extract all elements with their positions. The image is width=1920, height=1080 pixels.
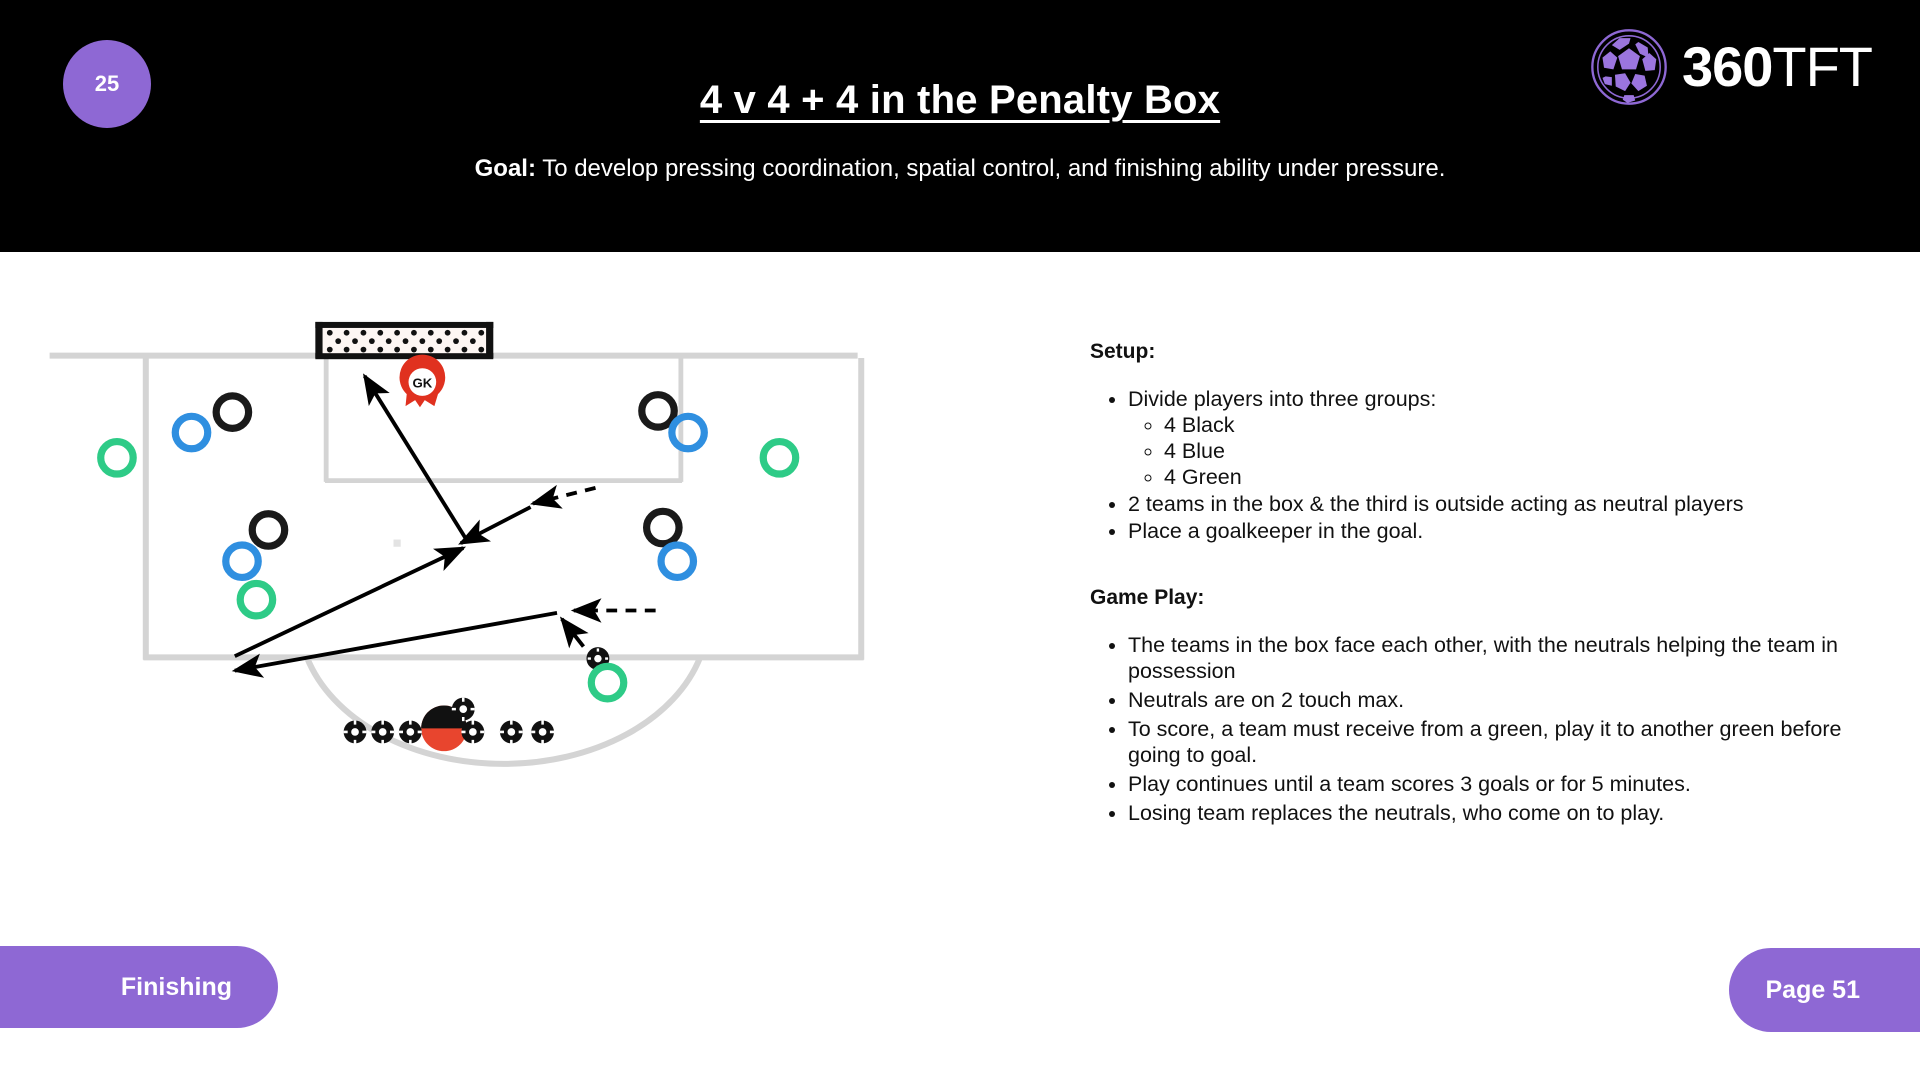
list-item: To score, a team must receive from a gre… [1128,716,1880,768]
brand-wordmark: 360TFT [1682,39,1872,95]
list-item: Play continues until a team scores 3 goa… [1128,771,1880,797]
goalkeeper-marker: GK [400,355,446,408]
goal-net [315,322,493,359]
soccer-ball-icon [1590,28,1668,106]
goal-text: To develop pressing coordination, spatia… [536,155,1445,182]
player-blue [226,545,258,577]
page-number-label: Page 51 [1765,976,1860,1005]
player-black [252,514,284,546]
setup-sublist: 4 Black 4 Blue 4 Green [1128,412,1880,490]
player-green-neutral [240,583,272,615]
list-item: 4 Blue [1164,438,1880,464]
arrow-run-top-right [533,488,596,504]
list-item: Neutrals are on 2 touch max. [1128,687,1880,713]
page-title-text: 4 v 4 + 4 in the Penalty Box [700,78,1220,122]
setup-heading: Setup: [1090,340,1880,364]
player-black [642,395,674,427]
list-item: The teams in the box face each other, wi… [1128,632,1880,684]
setup-list: Divide players into three groups: 4 Blac… [1090,386,1880,544]
player-green-neutral [763,442,795,474]
goal-label: Goal: [475,155,536,182]
player-blue [661,545,693,577]
equipment-ball-rack [344,698,554,752]
arrow-pass-to-green [235,613,557,671]
player-green-neutral [591,666,623,698]
list-item: Losing team replaces the neutrals, who c… [1128,800,1880,826]
category-badge: Finishing [0,946,278,1028]
players-group [101,395,796,699]
movement-arrows [235,376,656,671]
goal-statement: Goal: To develop pressing coordination, … [0,155,1920,183]
penalty-arc [307,657,700,764]
gameplay-list: The teams in the box face each other, wi… [1090,632,1880,826]
page-header: 25 4 v 4 + 4 in the Penalty Box Goal: To… [0,0,1920,252]
instructions-panel: Setup: Divide players into three groups:… [1090,340,1880,829]
page-number-badge: Page 51 [1729,948,1920,1032]
drill-diagram: GK [40,280,1050,840]
player-green-neutral [101,442,133,474]
pitch-svg: GK [40,280,1050,840]
player-blue [175,416,207,448]
list-item: 2 teams in the box & the third is outsid… [1128,491,1880,517]
penalty-spot [394,540,401,547]
list-item: Divide players into three groups: 4 Blac… [1128,386,1880,490]
goalkeeper-label: GK [412,375,432,390]
player-blue [672,416,704,448]
arrow-shot-to-goal [365,376,466,538]
player-black [216,396,248,428]
category-label: Finishing [121,973,232,1002]
list-item: 4 Green [1164,464,1880,490]
brand-wordmark-light: TFT [1772,35,1872,98]
arrow-ball-to-player [562,619,584,647]
brand-wordmark-bold: 360 [1682,35,1772,98]
gameplay-heading: Game Play: [1090,586,1880,610]
setup-item-text: Divide players into three groups: [1128,387,1436,411]
brand-logo: 360TFT [1590,28,1872,106]
arrow-pass-centre [461,507,531,543]
list-item: 4 Black [1164,412,1880,438]
player-black [647,511,679,543]
list-item: Place a goalkeeper in the goal. [1128,518,1880,544]
six-yard-box [325,358,682,482]
